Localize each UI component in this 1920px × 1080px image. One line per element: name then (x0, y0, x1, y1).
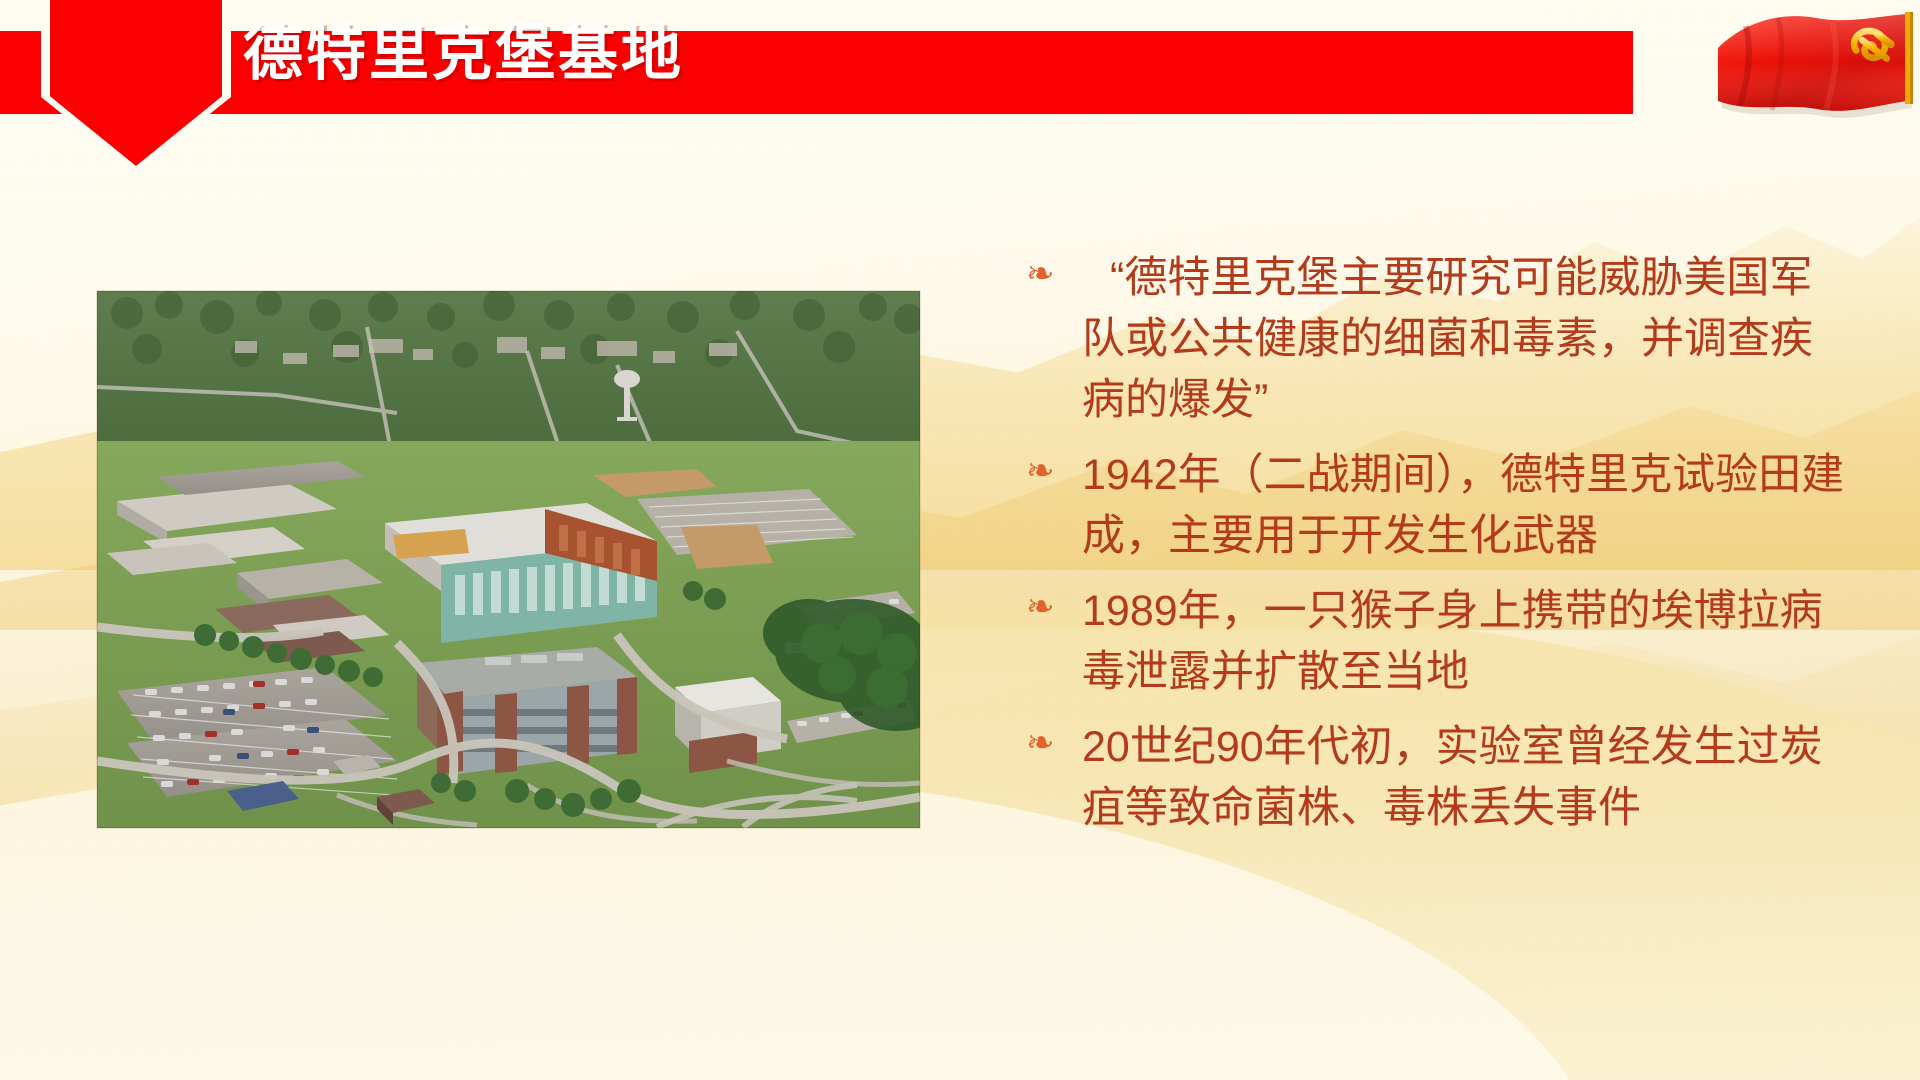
bullet-text-1: “德特里克堡主要研究可能威胁美国军队或公共健康的细菌和毒素，并调查疾病的爆发” (1082, 248, 1850, 431)
bullet-list: ❧ “德特里克堡主要研究可能威胁美国军队或公共健康的细菌和毒素，并调查疾病的爆发… (1020, 248, 1850, 853)
swirl-bullet-icon: ❧ (1020, 717, 1082, 769)
list-item: ❧ “德特里克堡主要研究可能威胁美国军队或公共健康的细菌和毒素，并调查疾病的爆发… (1020, 248, 1850, 431)
bullet-text-3: 1989年，一只猴子身上携带的埃博拉病毒泄露并扩散至当地 (1082, 581, 1850, 703)
title-badge-shield-icon (50, 0, 222, 166)
presentation-slide: 德特里克堡基地 (0, 0, 1920, 1080)
flag-pole (1905, 12, 1910, 104)
swirl-bullet-icon: ❧ (1020, 581, 1082, 633)
bullet-text-2: 1942年（二战期间），德特里克试验田建成，主要用于开发生化武器 (1082, 445, 1850, 567)
aerial-photo-image (97, 291, 920, 828)
bullet-text-4: 20世纪90年代初，实验室曾经发生过炭疽等致命菌株、毒株丢失事件 (1082, 717, 1850, 839)
page-title: 德特里克堡基地 (243, 24, 684, 84)
swirl-bullet-icon: ❧ (1020, 248, 1082, 300)
fort-detrick-aerial-photo (97, 291, 920, 828)
list-item: ❧ 20世纪90年代初，实验室曾经发生过炭疽等致命菌株、毒株丢失事件 (1020, 717, 1850, 839)
slide-header: 德特里克堡基地 (0, 0, 1920, 175)
swirl-bullet-icon: ❧ (1020, 445, 1082, 497)
party-flag-icon (1700, 6, 1920, 132)
list-item: ❧ 1942年（二战期间），德特里克试验田建成，主要用于开发生化武器 (1020, 445, 1850, 567)
list-item: ❧ 1989年，一只猴子身上携带的埃博拉病毒泄露并扩散至当地 (1020, 581, 1850, 703)
party-flag (1700, 6, 1920, 132)
